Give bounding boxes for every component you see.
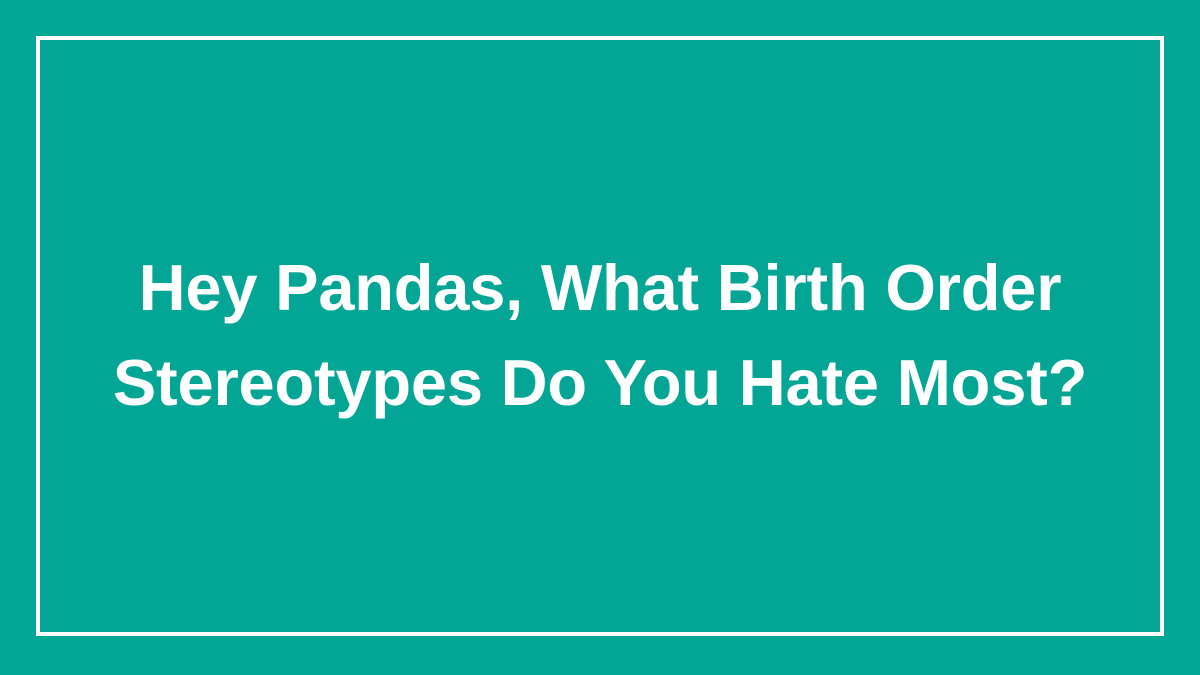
headline-block: Hey Pandas, What Birth Order Stereotypes… <box>40 240 1160 430</box>
poster-card: Hey Pandas, What Birth Order Stereotypes… <box>0 0 1200 675</box>
headline-line-1: Hey Pandas, What Birth Order <box>54 240 1146 335</box>
inner-border-frame: Hey Pandas, What Birth Order Stereotypes… <box>36 36 1164 636</box>
headline-line-2: Stereotypes Do You Hate Most? <box>54 335 1146 430</box>
